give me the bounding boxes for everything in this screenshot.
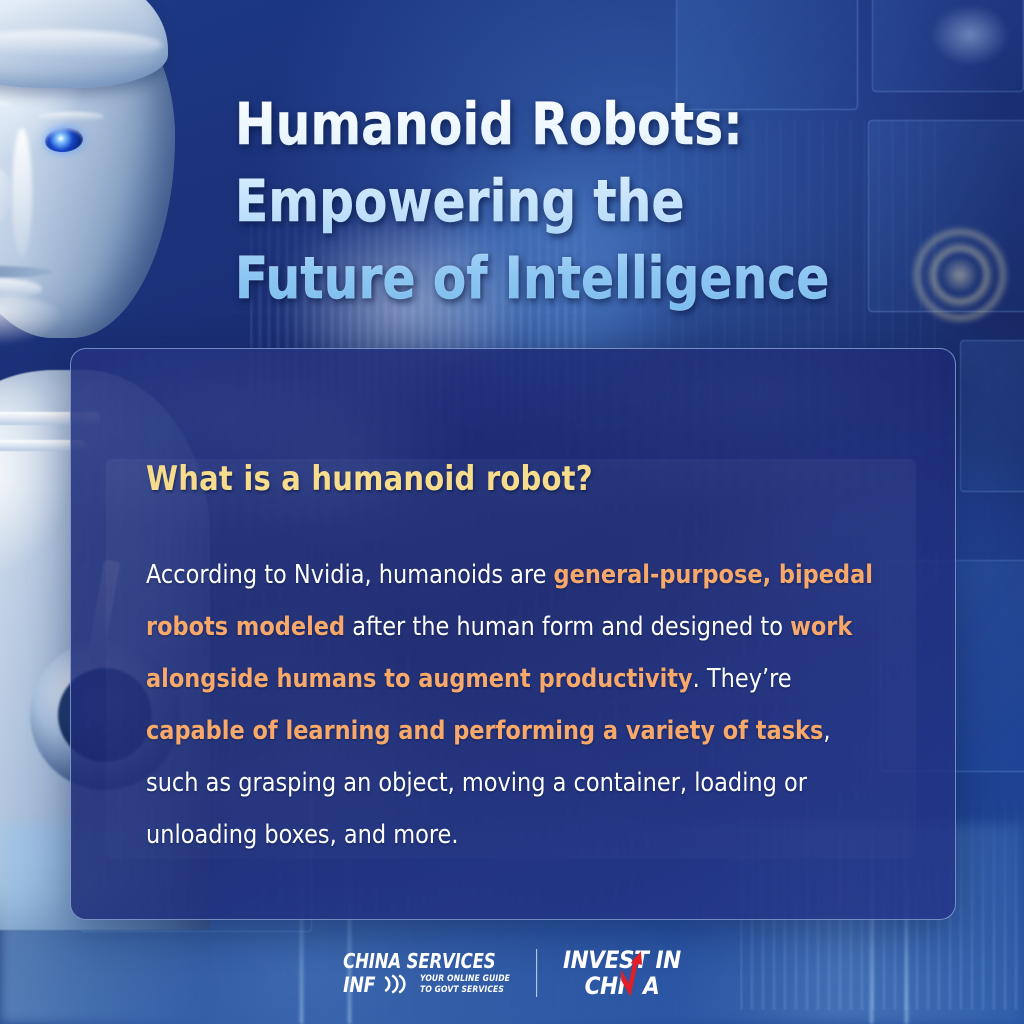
body-plain: . They’re [693,664,792,694]
poster-title: Humanoid Robots: Empowering the Future o… [235,86,942,317]
iic-line2-before: CHI [585,972,626,1000]
signal-waves-icon [381,974,411,994]
invest-in-china-logo[interactable]: INVEST IN CHINA [563,948,681,998]
csi-tagline-line1: YOUR ONLINE GUIDE [420,974,510,984]
poster-canvas: Humanoid Robots: Empowering the Future o… [0,0,1024,1024]
china-services-info-logo[interactable]: CHINA SERVICES INF YOUR ONLINE GUIDE TO … [343,951,510,996]
csi-line2: INF [343,975,375,996]
hud-glow-icon [925,0,1015,70]
csi-tagline-line2: TO GOVT SERVICES [420,985,510,995]
body-highlight: capable of learning and performing a var… [146,716,823,746]
content-card: What is a humanoid robot? According to N… [70,348,956,920]
footer: CHINA SERVICES INF YOUR ONLINE GUIDE TO … [0,920,1024,1024]
footer-logos: CHINA SERVICES INF YOUR ONLINE GUIDE TO … [343,948,681,998]
footer-divider [536,949,537,997]
hud-panel-icon [960,340,1024,492]
humanoid-robot-image [0,0,200,378]
body-plain: after the human form and designed to [345,612,790,642]
red-arrow-icon [621,950,651,996]
card-heading: What is a humanoid robot? [146,459,593,499]
card-body-text: According to Nvidia, humanoids are gener… [146,549,876,861]
csi-line1: CHINA SERVICES [343,951,495,971]
body-plain: According to Nvidia, humanoids are [146,560,554,590]
